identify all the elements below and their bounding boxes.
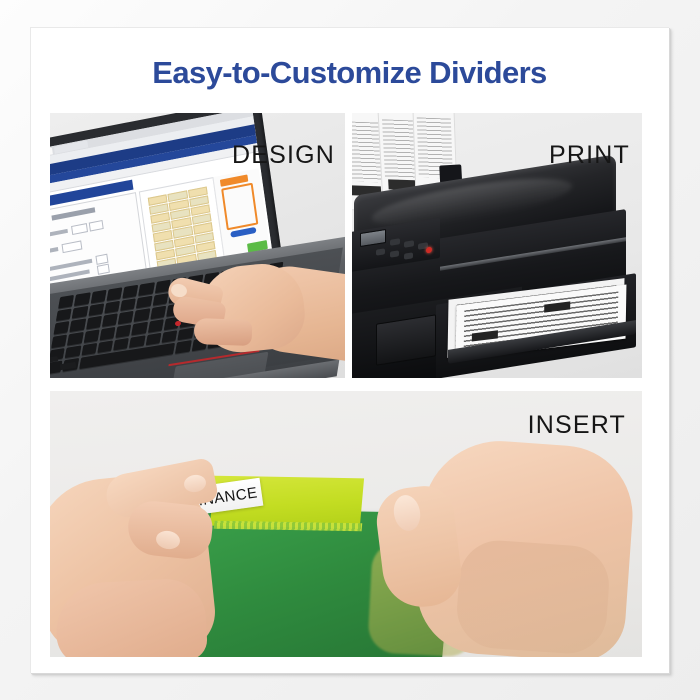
key [178,327,194,340]
key [134,309,150,322]
key [99,327,115,340]
thumb [194,318,253,346]
product-card: Easy-to-Customize Dividers [30,27,669,673]
key [152,293,168,306]
key [65,345,81,358]
key [120,298,136,311]
dialog-field-input [71,223,88,235]
key [90,290,106,303]
step-photo-insert: FINANCE INSERT [50,391,642,657]
dialog-title-placeholder [51,207,95,220]
key [81,343,97,356]
key [86,316,102,329]
dialog-field-label [50,247,58,255]
key [70,319,86,332]
step-label-print: PRINT [549,141,630,170]
key [54,321,70,334]
key [118,311,134,324]
key [56,308,72,321]
step-photo-print: PRINT [352,113,642,378]
key [150,306,166,319]
key [51,334,67,347]
page-title: Easy-to-Customize Dividers [30,55,669,91]
key [132,322,148,335]
key [88,303,104,316]
dialog-field-input [97,264,110,275]
key [97,340,113,353]
key [74,292,90,305]
key [72,306,88,319]
key [58,295,74,308]
product-image-canvas: Easy-to-Customize Dividers [0,0,700,700]
dialog-field-input [89,220,104,232]
key [162,330,178,343]
key [145,332,161,345]
key [116,324,132,337]
step-photo-design: DESIGN [50,113,345,378]
key [113,337,129,350]
key [129,335,145,348]
key [67,332,83,345]
key [123,285,139,298]
key [136,295,152,308]
key [104,300,120,313]
step-label-design: DESIGN [232,141,335,170]
step-label-insert: INSERT [528,411,626,440]
right-hand-knuckles [454,538,611,656]
key [83,329,99,342]
dialog-field-input [62,240,83,253]
selection-outline [221,183,258,231]
key [148,319,164,332]
dialog-field-label [50,229,68,239]
key [139,282,155,295]
key [102,314,118,327]
key [106,287,122,300]
